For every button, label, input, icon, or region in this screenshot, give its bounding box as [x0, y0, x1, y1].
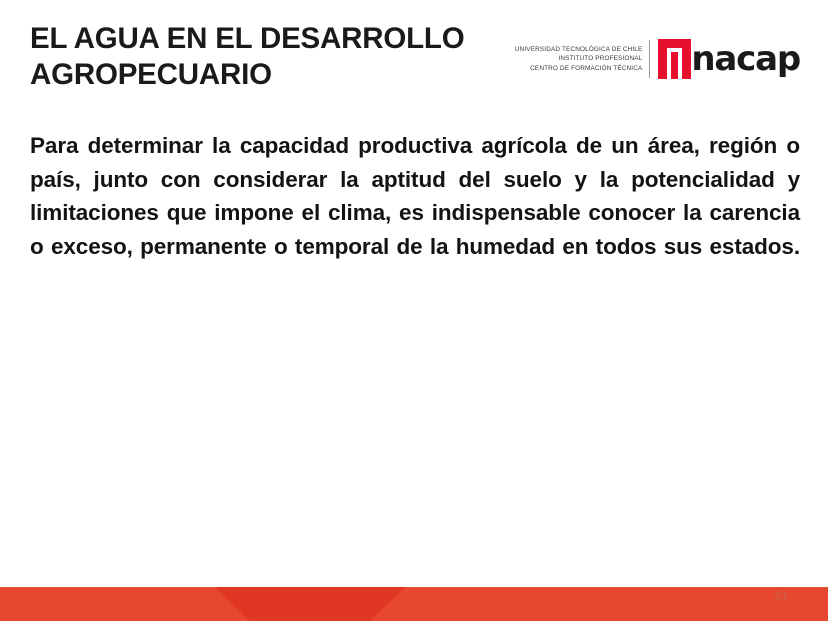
- footer-bar: 51: [0, 587, 828, 621]
- inacap-mark-icon: [658, 39, 691, 79]
- body-block: Para determinar la capacidad productiva …: [30, 129, 800, 297]
- footer-chevron-shape: [0, 587, 828, 621]
- body-paragraph: Para determinar la capacidad productiva …: [30, 129, 800, 297]
- logo-divider: [649, 40, 650, 78]
- logo-wordmark: nacap: [691, 39, 800, 79]
- logo-legend-line-2: INSTITUTO PROFESIONAL: [515, 54, 643, 64]
- page-title: EL AGUA EN EL DESARROLLO AGROPECUARIO: [30, 21, 530, 93]
- slide-canvas: EL AGUA EN EL DESARROLLO AGROPECUARIO UN…: [0, 0, 828, 621]
- inacap-logo: UNIVERSIDAD TECNOLÓGICA DE CHILE INSTITU…: [515, 36, 800, 82]
- logo-legend-text: UNIVERSIDAD TECNOLÓGICA DE CHILE INSTITU…: [515, 45, 650, 74]
- logo-legend-line-3: CENTRO DE FORMACIÓN TÉCNICA: [515, 64, 643, 74]
- title-block: EL AGUA EN EL DESARROLLO AGROPECUARIO: [30, 21, 530, 93]
- logo-legend-line-1: UNIVERSIDAD TECNOLÓGICA DE CHILE: [515, 45, 643, 55]
- slide-number: 51: [775, 588, 788, 604]
